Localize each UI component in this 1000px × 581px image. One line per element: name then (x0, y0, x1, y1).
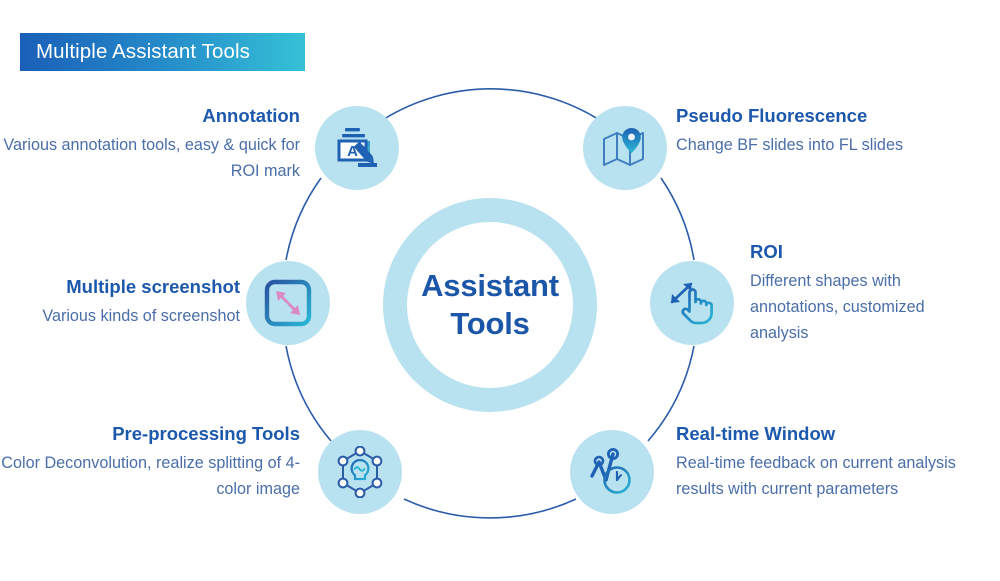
hand-pointer-resize-icon (665, 278, 719, 328)
node-desc-annotation: Various annotation tools, easy & quick f… (0, 132, 300, 184)
arc-top (384, 89, 598, 119)
node-desc-multiple-screenshot: Various kinds of screenshot (0, 303, 240, 329)
node-desc-pseudo-fluorescence: Change BF slides into FL slides (676, 132, 976, 158)
node-desc-pre-processing-tools: Color Deconvolution, realize splitting o… (0, 450, 300, 502)
node-text-pre-processing-tools: Pre-processing Tools Color Deconvolution… (0, 422, 300, 502)
node-circle-multiple-screenshot[interactable] (246, 261, 330, 345)
center-hub: Assistant Tools (383, 198, 597, 412)
arc-bottom (404, 499, 576, 518)
node-circle-real-time-window[interactable] (570, 430, 654, 514)
node-circle-pseudo-fluorescence[interactable] (583, 106, 667, 190)
node-text-roi: ROI Different shapes with annotations, c… (750, 240, 980, 347)
node-title-roi: ROI (750, 240, 980, 265)
chart-clock-icon (586, 446, 638, 498)
node-circle-annotation[interactable]: A (315, 106, 399, 190)
node-desc-roi: Different shapes with annotations, custo… (750, 268, 980, 347)
node-title-annotation: Annotation (0, 104, 300, 129)
node-title-pseudo-fluorescence: Pseudo Fluorescence (676, 104, 976, 129)
map-pin-icon (599, 123, 651, 173)
molecule-bulb-icon (334, 446, 386, 498)
node-text-pseudo-fluorescence: Pseudo Fluorescence Change BF slides int… (676, 104, 976, 158)
hub-title-line1: Assistant (421, 267, 559, 305)
center-hub-inner: Assistant Tools (407, 222, 573, 388)
node-text-multiple-screenshot: Multiple screenshot Various kinds of scr… (0, 275, 240, 329)
screenshot-resize-icon (263, 278, 313, 328)
node-title-multiple-screenshot: Multiple screenshot (0, 275, 240, 300)
hub-title-line2: Tools (450, 305, 529, 343)
annotation-card-pencil-icon: A (331, 122, 383, 174)
node-text-real-time-window: Real-time Window Real-time feedback on c… (676, 422, 966, 502)
node-title-real-time-window: Real-time Window (676, 422, 966, 447)
arc-upper-right (661, 178, 694, 260)
node-circle-pre-processing-tools[interactable] (318, 430, 402, 514)
infographic-page: Multiple Assistant Tools Assistant Tools (0, 0, 1000, 581)
node-text-annotation: Annotation Various annotation tools, eas… (0, 104, 300, 184)
node-circle-roi[interactable] (650, 261, 734, 345)
node-desc-real-time-window: Real-time feedback on current analysis r… (676, 450, 966, 502)
arc-upper-left (286, 178, 321, 260)
node-title-pre-processing-tools: Pre-processing Tools (0, 422, 300, 447)
